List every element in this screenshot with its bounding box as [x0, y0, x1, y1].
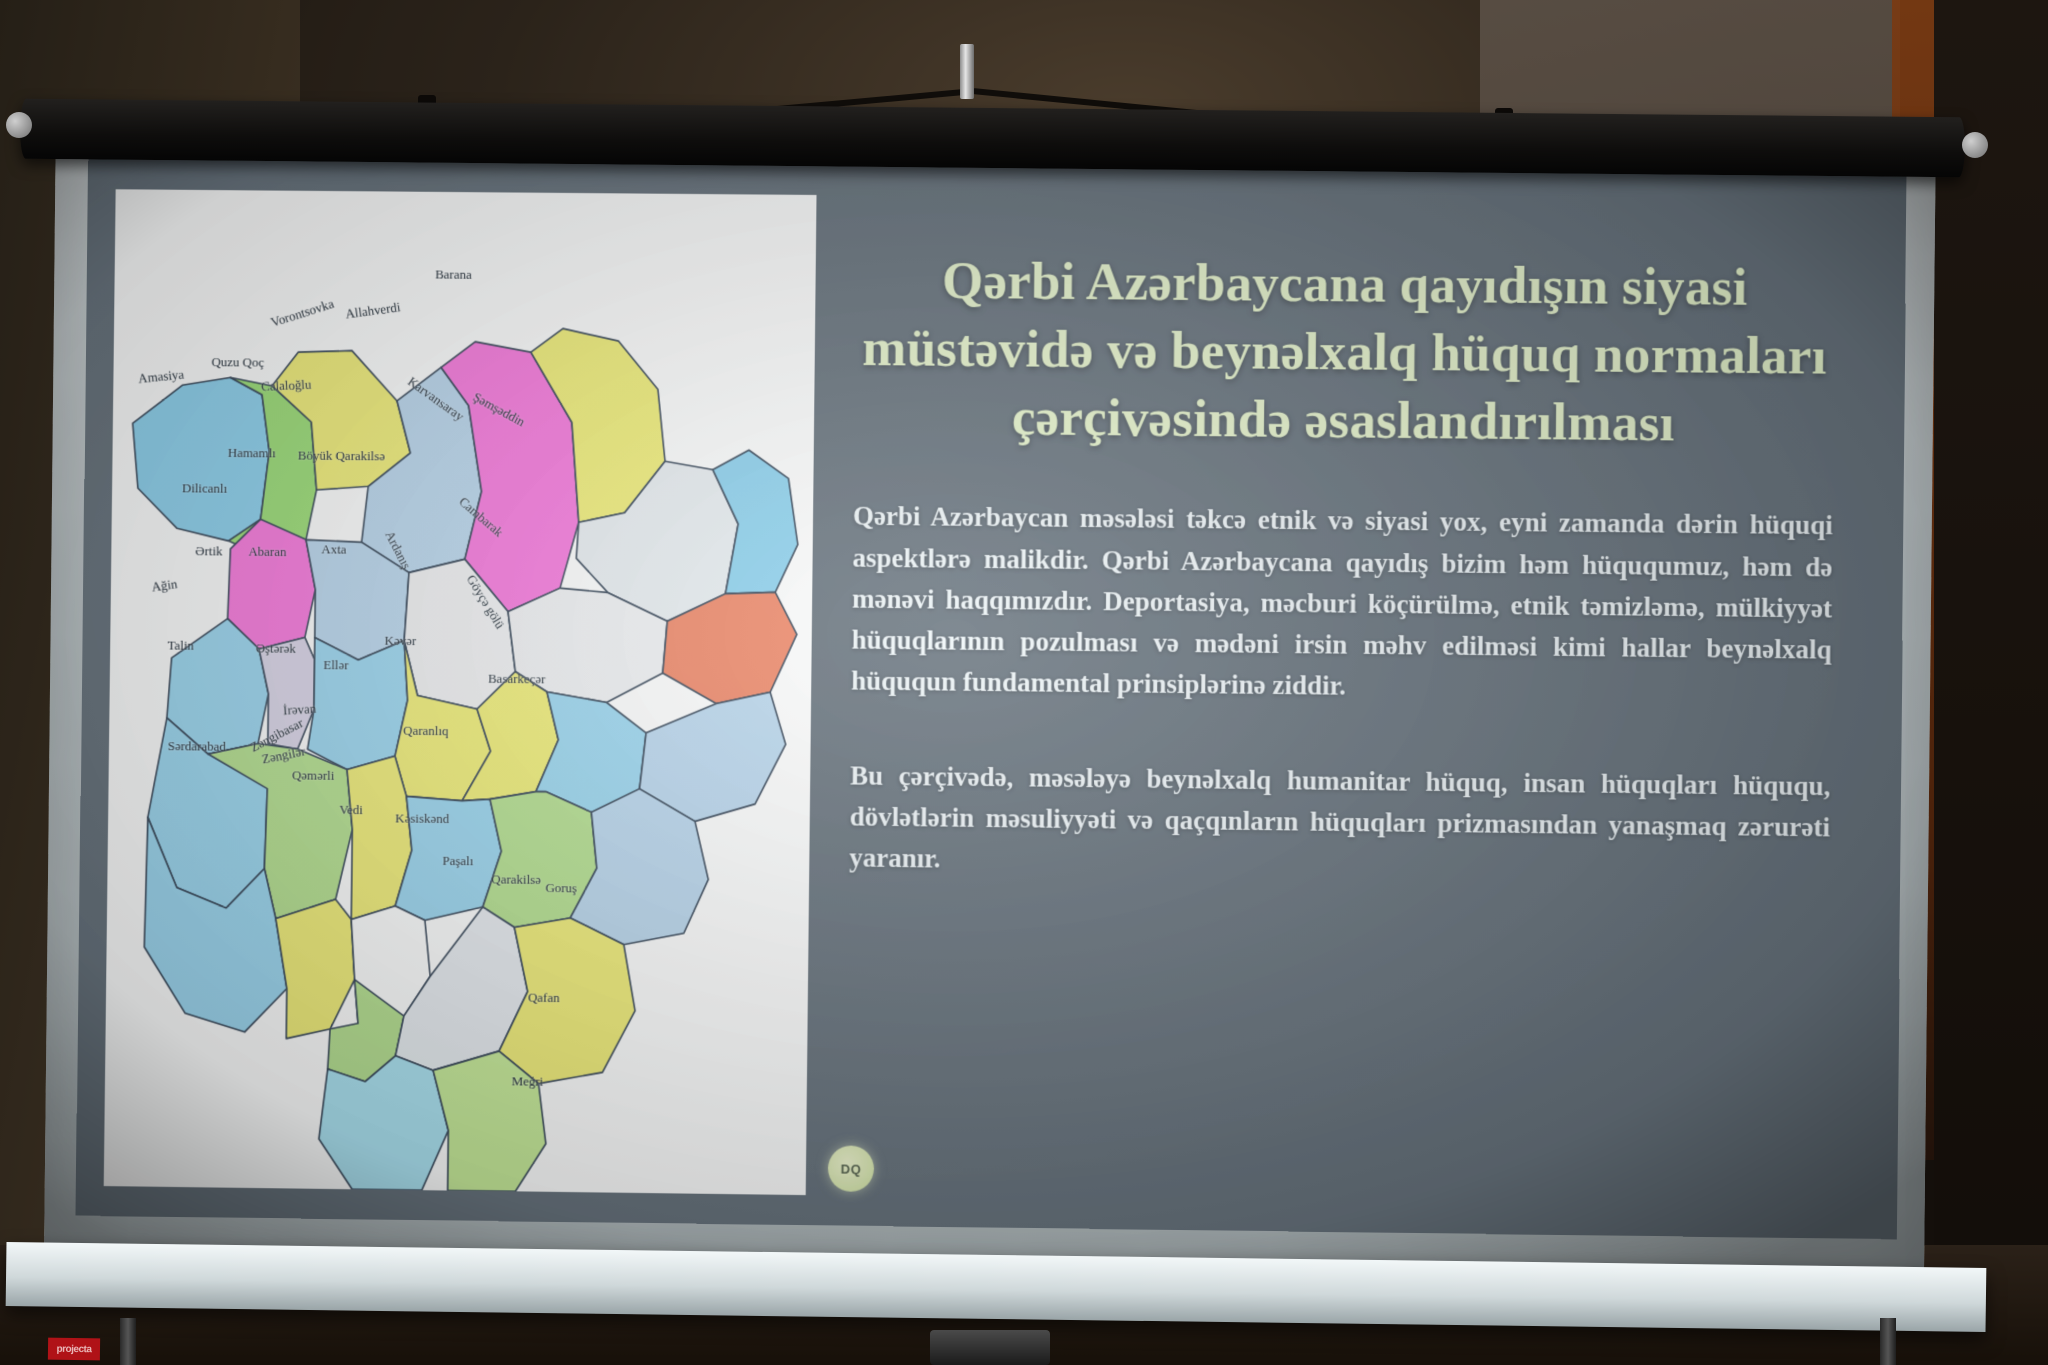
screen-end-cap-right: [1962, 132, 1988, 158]
screen-brand-label: projecta: [48, 1338, 100, 1361]
slide-title: Qərbi Azərbaycana qayıdışın siyasi müstə…: [854, 247, 1836, 459]
slide-corner-badge: DQ: [828, 1145, 874, 1192]
screen-leg-right: [1880, 1318, 1896, 1365]
projection-screen: BaranaAllahverdiVorontsovkaAmasiyaQuzu Q…: [44, 110, 1936, 1275]
room-background: BaranaAllahverdiVorontsovkaAmasiyaQuzu Q…: [0, 0, 2048, 1365]
screen-stand-foot: [930, 1330, 1050, 1365]
map-canvas: [104, 189, 817, 1195]
slide-text-panel: Qərbi Azərbaycana qayıdışın siyasi müstə…: [805, 151, 1906, 1239]
slide-paragraph-1: Qərbi Azərbaycan məsələsi təkcə etnik və…: [851, 496, 1833, 711]
map-panel: BaranaAllahverdiVorontsovkaAmasiyaQuzu Q…: [104, 189, 817, 1195]
screen-brand-label-text: projecta: [56, 1343, 91, 1354]
slide-corner-badge-label: DQ: [841, 1161, 862, 1176]
screen-leg-left: [120, 1318, 136, 1365]
screen-hanger-hook: [960, 44, 974, 99]
wall-panel-right: [1934, 0, 2048, 1365]
slide-paragraph-2: Bu çərçivədə, məsələyə beynəlxalq humani…: [849, 755, 1831, 889]
presentation-slide: BaranaAllahverdiVorontsovkaAmasiyaQuzu Q…: [76, 145, 1907, 1239]
screen-end-cap-left: [6, 112, 32, 138]
map-svg: [104, 189, 817, 1195]
